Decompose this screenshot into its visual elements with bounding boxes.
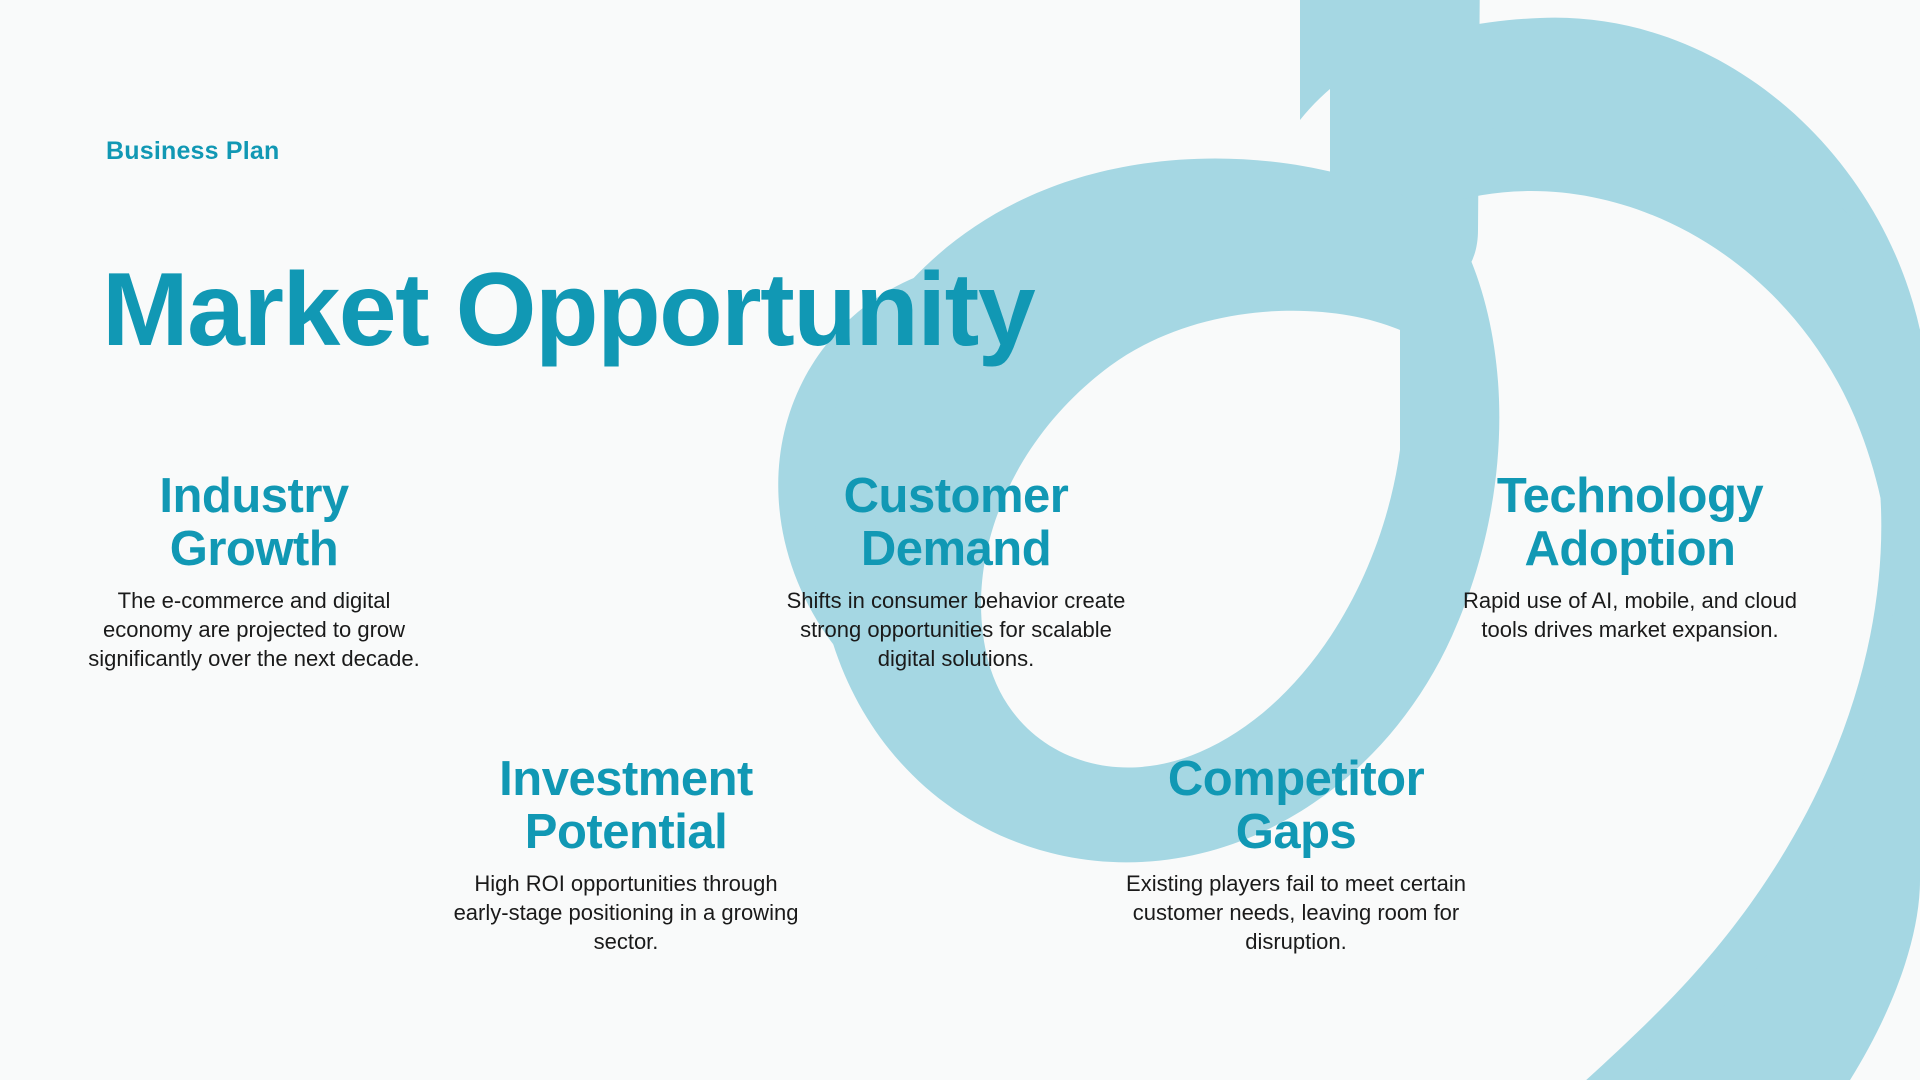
card-description-technology-adoption: Rapid use of AI, mobile, and cloud tools… — [1438, 586, 1822, 644]
card-title-industry-growth: Industry Growth — [86, 470, 422, 576]
card-title-competitor-gaps: Competitor Gaps — [1118, 753, 1474, 859]
card-investment-potential: Investment Potential High ROI opportunit… — [448, 753, 804, 956]
page-title: Market Opportunity — [102, 258, 1034, 362]
slide-eyebrow: Business Plan — [106, 137, 280, 166]
card-description-investment-potential: High ROI opportunities through early-sta… — [448, 869, 804, 956]
card-title-technology-adoption: Technology Adoption — [1438, 470, 1822, 576]
card-title-customer-demand: Customer Demand — [770, 470, 1142, 576]
slide-content: Business Plan Market Opportunity Industr… — [0, 0, 1920, 1080]
card-competitor-gaps: Competitor Gaps Existing players fail to… — [1118, 753, 1474, 956]
card-description-customer-demand: Shifts in consumer behavior create stron… — [770, 586, 1142, 673]
card-customer-demand: Customer Demand Shifts in consumer behav… — [770, 470, 1142, 673]
card-title-investment-potential: Investment Potential — [448, 753, 804, 859]
card-technology-adoption: Technology Adoption Rapid use of AI, mob… — [1438, 470, 1822, 644]
card-description-industry-growth: The e-commerce and digital economy are p… — [86, 586, 422, 673]
slide-canvas: Business Plan Market Opportunity Industr… — [0, 0, 1920, 1080]
card-industry-growth: Industry Growth The e-commerce and digit… — [86, 470, 422, 673]
card-description-competitor-gaps: Existing players fail to meet certain cu… — [1118, 869, 1474, 956]
